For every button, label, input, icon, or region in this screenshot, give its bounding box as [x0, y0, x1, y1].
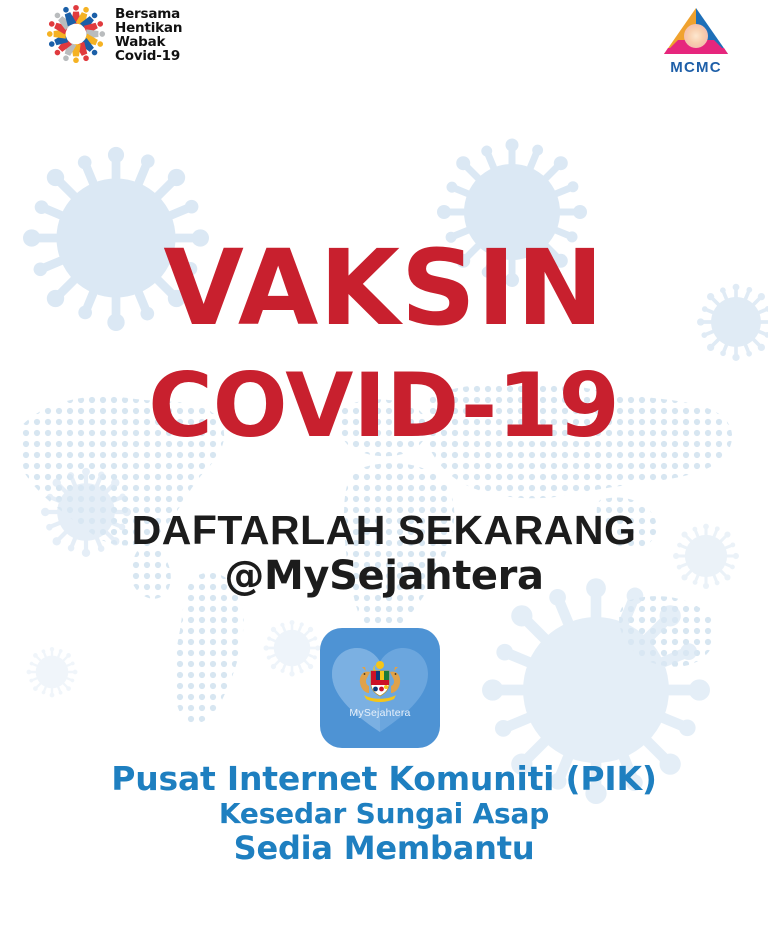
campaign-logo: Bersama Hentikan Wabak Covid-19	[44, 2, 182, 66]
poster-header: Bersama Hentikan Wabak Covid-19	[0, 0, 768, 92]
headline-covid19: COVID-19	[0, 362, 768, 450]
headline-vaksin: VAKSIN	[0, 236, 768, 340]
mcmc-label: MCMC	[654, 59, 738, 76]
mcmc-logo: MCMC	[654, 6, 738, 76]
mcmc-triangle-icon	[654, 6, 738, 58]
bersama-hentikan-wabak-covid19-logo-icon	[44, 2, 108, 66]
mysejahtera-app-icon[interactable]: MySejahtera	[320, 628, 440, 748]
subheadline-mysejahtera-handle: @MySejahtera	[0, 556, 768, 596]
poster-root: Bersama Hentikan Wabak Covid-19	[0, 0, 768, 936]
mysejahtera-app-label: MySejahtera	[349, 707, 410, 719]
campaign-logo-text: Bersama Hentikan Wabak Covid-19	[115, 5, 182, 63]
subheadline-register-now: DAFTARLAH SEKARANG	[0, 510, 768, 551]
poster-content: VAKSIN COVID-19 DAFTARLAH SEKARANG @MySe…	[0, 0, 768, 936]
